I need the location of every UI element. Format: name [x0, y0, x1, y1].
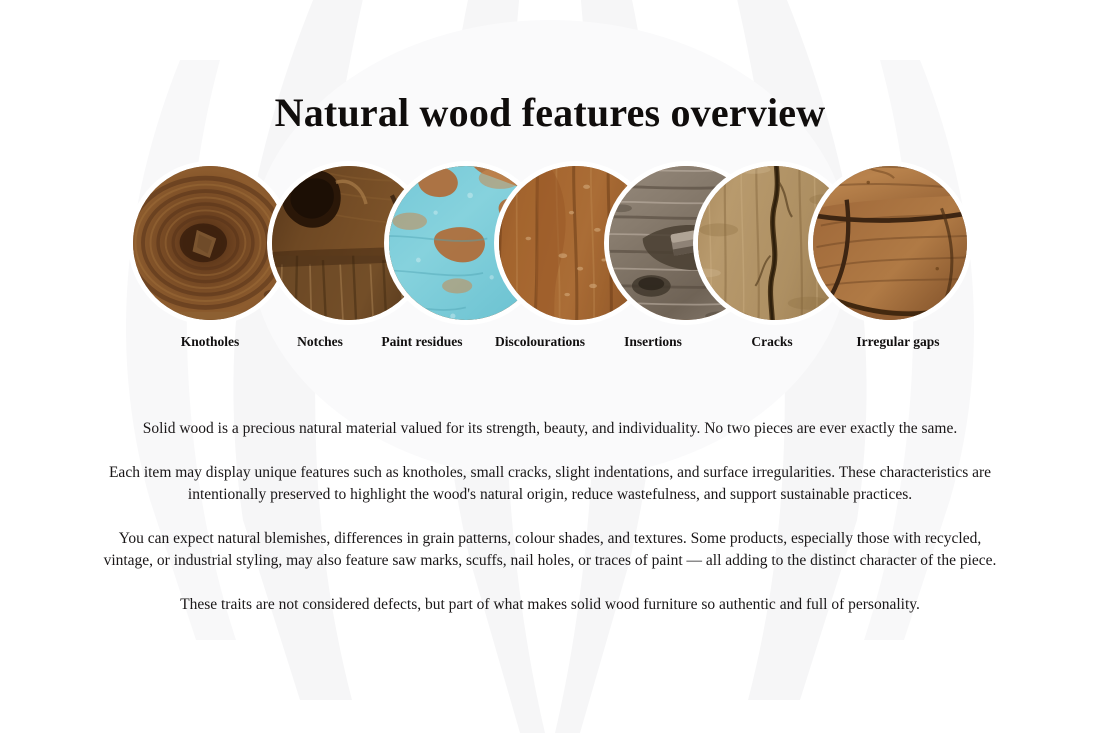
- body-copy: Solid wood is a precious natural materia…: [95, 418, 1005, 616]
- wood-irregular-gap-swatch: [813, 166, 967, 320]
- body-paragraph-4: These traits are not considered defects,…: [95, 594, 1005, 617]
- body-paragraph-1: Solid wood is a precious natural materia…: [95, 418, 1005, 441]
- feature-label-irregular-gaps: Irregular gaps: [818, 334, 978, 350]
- body-paragraph-2: Each item may display unique features su…: [95, 462, 1005, 507]
- feature-image-strip: [0, 166, 1100, 326]
- page-root: Natural wood features overview: [0, 0, 1100, 733]
- body-paragraph-3: You can expect natural blemishes, differ…: [95, 528, 1005, 573]
- feature-image-knotholes[interactable]: [133, 166, 287, 320]
- wood-knothole-swatch: [133, 166, 287, 320]
- page-title: Natural wood features overview: [0, 89, 1100, 136]
- feature-image-irregular-gaps[interactable]: [813, 166, 967, 320]
- feature-labels-row: Knotholes Notches Paint residues Discolo…: [0, 334, 1100, 358]
